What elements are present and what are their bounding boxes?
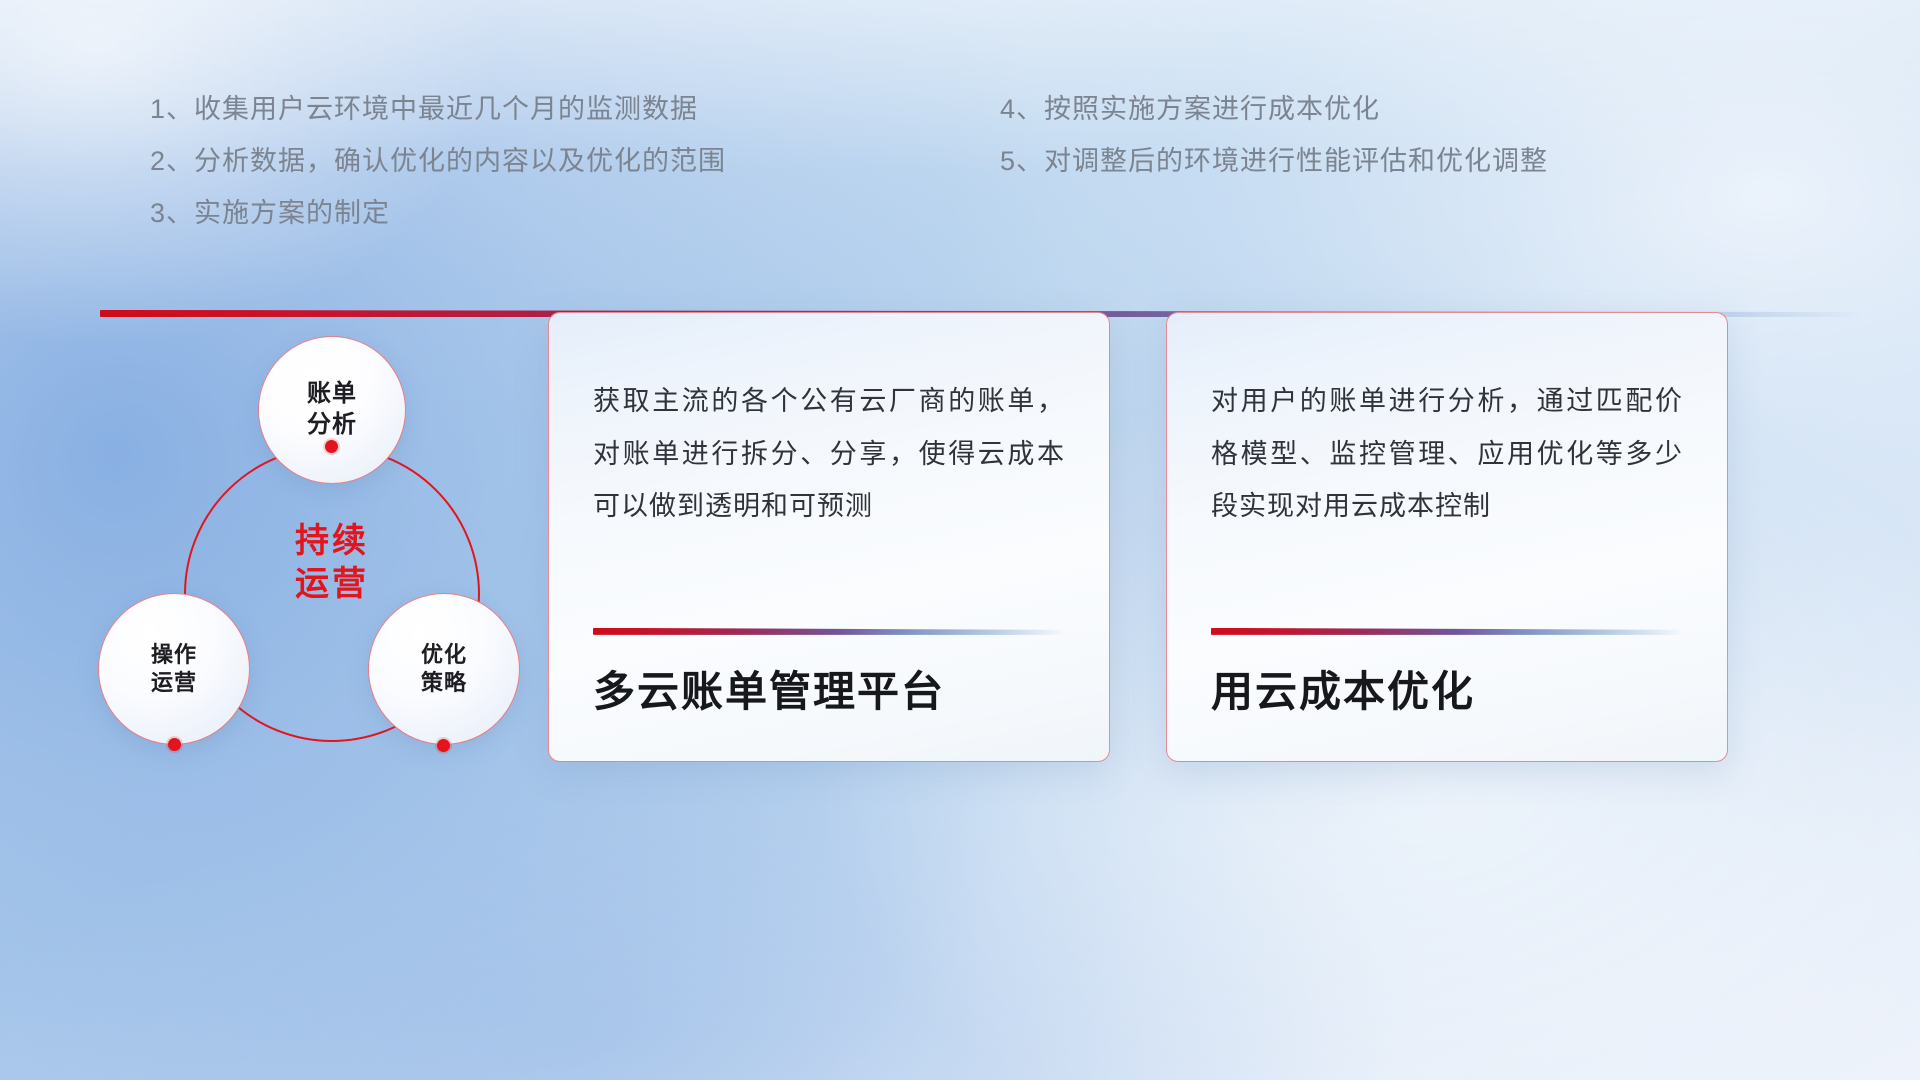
bubble-optimization-strategy-line-2: 策略 [421, 669, 467, 697]
bubble-optimization-strategy[interactable]: 优化 策略 [368, 593, 520, 745]
step-item-4: 4、按照实施方案进行成本优化 [1000, 96, 1548, 123]
center-label-line-1: 持续 [184, 520, 480, 563]
card-multi-cloud-billing[interactable]: 获取主流的各个公有云厂商的账单，对账单进行拆分、分享，使得云成本可以做到透明和可… [548, 312, 1110, 762]
bubble-optimization-strategy-line-1: 优化 [421, 641, 467, 669]
steps-column-right: 4、按照实施方案进行成本优化 5、对调整后的环境进行性能评估和优化调整 [1000, 96, 1548, 200]
feature-cards: 获取主流的各个公有云厂商的账单，对账单进行拆分、分享，使得云成本可以做到透明和可… [548, 312, 1728, 762]
card-divider-rule [1211, 628, 1681, 635]
slide-canvas: 1、收集用户云环境中最近几个月的监测数据 2、分析数据，确认优化的内容以及优化的… [0, 0, 1920, 1080]
bubble-bill-analysis-line-2: 分析 [307, 410, 357, 441]
bubble-operations-line-1: 操作 [151, 641, 197, 669]
step-item-5: 5、对调整后的环境进行性能评估和优化调整 [1000, 148, 1548, 175]
steps-column-left: 1、收集用户云环境中最近几个月的监测数据 2、分析数据，确认优化的内容以及优化的… [150, 96, 726, 252]
card-spacer [593, 533, 1065, 628]
node-dot-top [325, 440, 338, 453]
steps-list: 1、收集用户云环境中最近几个月的监测数据 2、分析数据，确认优化的内容以及优化的… [0, 96, 1920, 266]
bubble-operations-line-2: 运营 [151, 669, 197, 697]
card-cloud-cost-optimization-title: 用云成本优化 [1211, 669, 1683, 715]
bubble-bill-analysis-line-1: 账单 [307, 379, 357, 410]
node-dot-bottom-right [437, 739, 450, 752]
bubble-bill-analysis[interactable]: 账单 分析 [258, 336, 406, 484]
card-multi-cloud-billing-body: 获取主流的各个公有云厂商的账单，对账单进行拆分、分享，使得云成本可以做到透明和可… [593, 375, 1065, 533]
card-spacer [1211, 533, 1683, 628]
step-item-1: 1、收集用户云环境中最近几个月的监测数据 [150, 96, 726, 123]
card-cloud-cost-optimization-body: 对用户的账单进行分析，通过匹配价格模型、监控管理、应用优化等多少段实现对用云成本… [1211, 375, 1683, 533]
step-item-2: 2、分析数据，确认优化的内容以及优化的范围 [150, 148, 726, 175]
card-multi-cloud-billing-title: 多云账单管理平台 [593, 669, 1065, 715]
card-cloud-cost-optimization[interactable]: 对用户的账单进行分析，通过匹配价格模型、监控管理、应用优化等多少段实现对用云成本… [1166, 312, 1728, 762]
node-dot-bottom-left [168, 738, 181, 751]
bubble-operations[interactable]: 操作 运营 [98, 593, 250, 745]
step-item-3: 3、实施方案的制定 [150, 200, 726, 227]
continuous-operation-diagram: 持续 运营 账单 分析 操作 运营 优化 策略 [90, 350, 570, 830]
card-divider-rule [593, 628, 1063, 635]
